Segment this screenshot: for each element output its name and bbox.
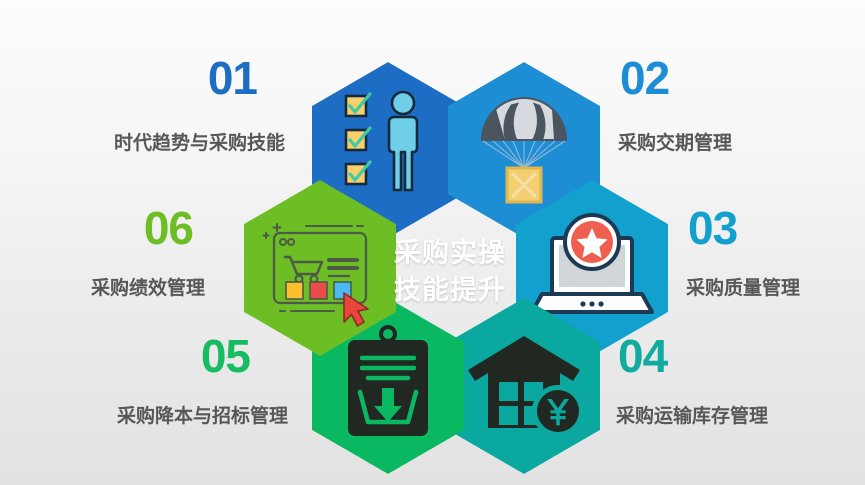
caption-02-label: 采购交期管理 — [618, 134, 848, 153]
caption-06-number: 06 — [45, 205, 193, 251]
caption-02-number: 02 — [620, 55, 848, 101]
caption-03-number: 03 — [688, 205, 861, 251]
caption-04[interactable]: 04 采购运输库存管理 — [616, 333, 861, 426]
caption-06-label: 采购绩效管理 — [45, 279, 205, 298]
caption-05-number: 05 — [48, 333, 250, 379]
caption-05[interactable]: 05 采购降本与招标管理 — [48, 333, 288, 426]
center-title-line-1: 采购实操 — [394, 235, 506, 272]
infographic-slide: 采购实操 技能提升 01 时代趋势与采购技能 02 采购交期管理 03 采购质量… — [0, 0, 865, 485]
caption-05-label: 采购降本与招标管理 — [48, 407, 288, 426]
caption-02[interactable]: 02 采购交期管理 — [618, 55, 848, 153]
caption-01-label: 时代趋势与采购技能 — [20, 134, 285, 153]
clipboard-download-icon — [348, 327, 428, 436]
center-title-line-2: 技能提升 — [394, 272, 506, 309]
caption-03[interactable]: 03 采购质量管理 — [686, 205, 861, 298]
caption-06[interactable]: 06 采购绩效管理 — [45, 205, 205, 298]
caption-01-number: 01 — [20, 55, 257, 101]
caption-01[interactable]: 01 时代趋势与采购技能 — [20, 55, 285, 153]
caption-04-label: 采购运输库存管理 — [616, 407, 861, 426]
caption-04-number: 04 — [618, 333, 861, 379]
caption-03-label: 采购质量管理 — [686, 279, 861, 298]
